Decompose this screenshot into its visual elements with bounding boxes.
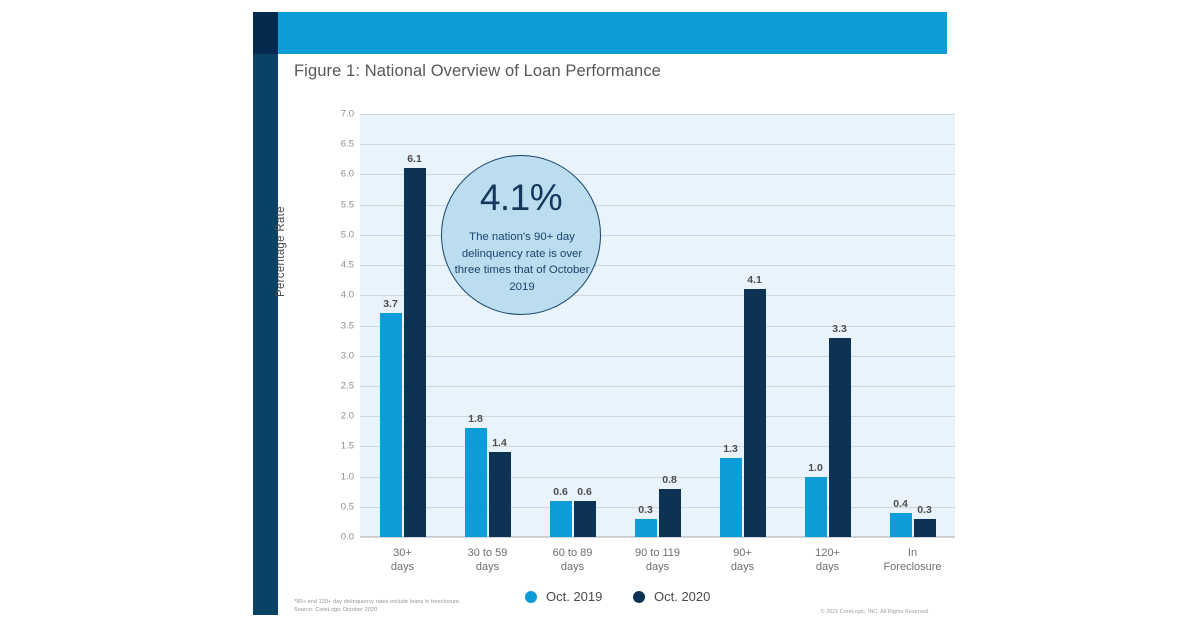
bar-value-label: 6.1 bbox=[395, 153, 435, 165]
header-band bbox=[278, 12, 947, 54]
bar-group: 0.40.3 bbox=[870, 114, 955, 537]
y-axis-tick-label: 4.5 bbox=[284, 260, 354, 271]
y-axis-tick-label: 0.5 bbox=[284, 501, 354, 512]
copyright-notice: © 2021 CoreLogic, INC. All Rights Reserv… bbox=[630, 609, 930, 615]
legend-item[interactable]: Oct. 2020 bbox=[633, 589, 710, 604]
bar-oct-2019[interactable] bbox=[380, 313, 402, 537]
bar-oct-2019[interactable] bbox=[635, 519, 657, 537]
bar-group: 1.03.3 bbox=[785, 114, 870, 537]
y-axis-tick-label: 4.0 bbox=[284, 290, 354, 301]
bar-oct-2020[interactable] bbox=[404, 168, 426, 537]
y-axis-tick-label: 5.5 bbox=[284, 199, 354, 210]
bar-value-label: 3.3 bbox=[820, 323, 860, 335]
x-axis-category-line: In bbox=[853, 546, 973, 560]
callout-description: The nation's 90+ day delinquency rate is… bbox=[454, 229, 590, 295]
bar-oct-2019[interactable] bbox=[720, 458, 742, 537]
bar-value-label: 1.4 bbox=[480, 437, 520, 449]
bar-value-label: 4.1 bbox=[735, 274, 775, 286]
bar-oct-2019[interactable] bbox=[550, 501, 572, 537]
figure-card: Figure 1: National Overview of Loan Perf… bbox=[253, 12, 947, 615]
bar-oct-2020[interactable] bbox=[489, 452, 511, 537]
bar-value-label: 0.3 bbox=[905, 504, 945, 516]
y-axis-tick-label: 3.5 bbox=[284, 320, 354, 331]
y-axis-tick-label: 2.0 bbox=[284, 411, 354, 422]
bar-oct-2020[interactable] bbox=[914, 519, 936, 537]
bar-chart: Percentage Rate 0.00.51.01.52.02.53.03.5… bbox=[278, 102, 947, 615]
bar-value-label: 1.8 bbox=[456, 413, 496, 425]
bar-group: 1.34.1 bbox=[700, 114, 785, 537]
callout-value: 4.1% bbox=[442, 177, 600, 219]
y-axis-tick-label: 1.5 bbox=[284, 441, 354, 452]
footnote-line-2: Source: CoreLogic October 2020 bbox=[294, 606, 594, 614]
bar-value-label: 0.6 bbox=[565, 486, 605, 498]
legend-dot-icon bbox=[633, 591, 645, 603]
page-title: Figure 1: National Overview of Loan Perf… bbox=[294, 62, 914, 92]
footnote-line-1: *90+ and 120+ day delinquency rates incl… bbox=[294, 598, 594, 606]
y-axis-ticks: 0.00.51.01.52.02.53.03.54.04.55.05.56.06… bbox=[278, 114, 354, 537]
bar-group: 3.76.1 bbox=[360, 114, 445, 537]
accent-stripe-top bbox=[253, 12, 278, 54]
x-axis-category-line: Foreclosure bbox=[853, 560, 973, 574]
y-axis-tick-label: 3.0 bbox=[284, 350, 354, 361]
y-axis-tick-label: 6.0 bbox=[284, 169, 354, 180]
gridline bbox=[360, 537, 955, 538]
bar-oct-2019[interactable] bbox=[890, 513, 912, 537]
bar-oct-2020[interactable] bbox=[659, 489, 681, 537]
y-axis-tick-label: 2.5 bbox=[284, 380, 354, 391]
bar-oct-2019[interactable] bbox=[805, 477, 827, 537]
bar-group: 0.30.8 bbox=[615, 114, 700, 537]
bar-oct-2020[interactable] bbox=[574, 501, 596, 537]
callout-circle: 4.1% The nation's 90+ day delinquency ra… bbox=[441, 155, 601, 315]
footnote: *90+ and 120+ day delinquency rates incl… bbox=[294, 598, 594, 615]
bar-oct-2020[interactable] bbox=[744, 289, 766, 537]
y-axis-tick-label: 7.0 bbox=[284, 109, 354, 120]
y-axis-tick-label: 1.0 bbox=[284, 471, 354, 482]
y-axis-tick-label: 0.0 bbox=[284, 532, 354, 543]
legend-label: Oct. 2020 bbox=[654, 589, 710, 604]
bar-oct-2020[interactable] bbox=[829, 338, 851, 537]
accent-stripe-body bbox=[253, 54, 278, 615]
y-axis-tick-label: 6.5 bbox=[284, 139, 354, 150]
bar-value-label: 0.8 bbox=[650, 474, 690, 486]
x-axis-category-label: InForeclosure bbox=[853, 546, 973, 574]
y-axis-tick-label: 5.0 bbox=[284, 229, 354, 240]
